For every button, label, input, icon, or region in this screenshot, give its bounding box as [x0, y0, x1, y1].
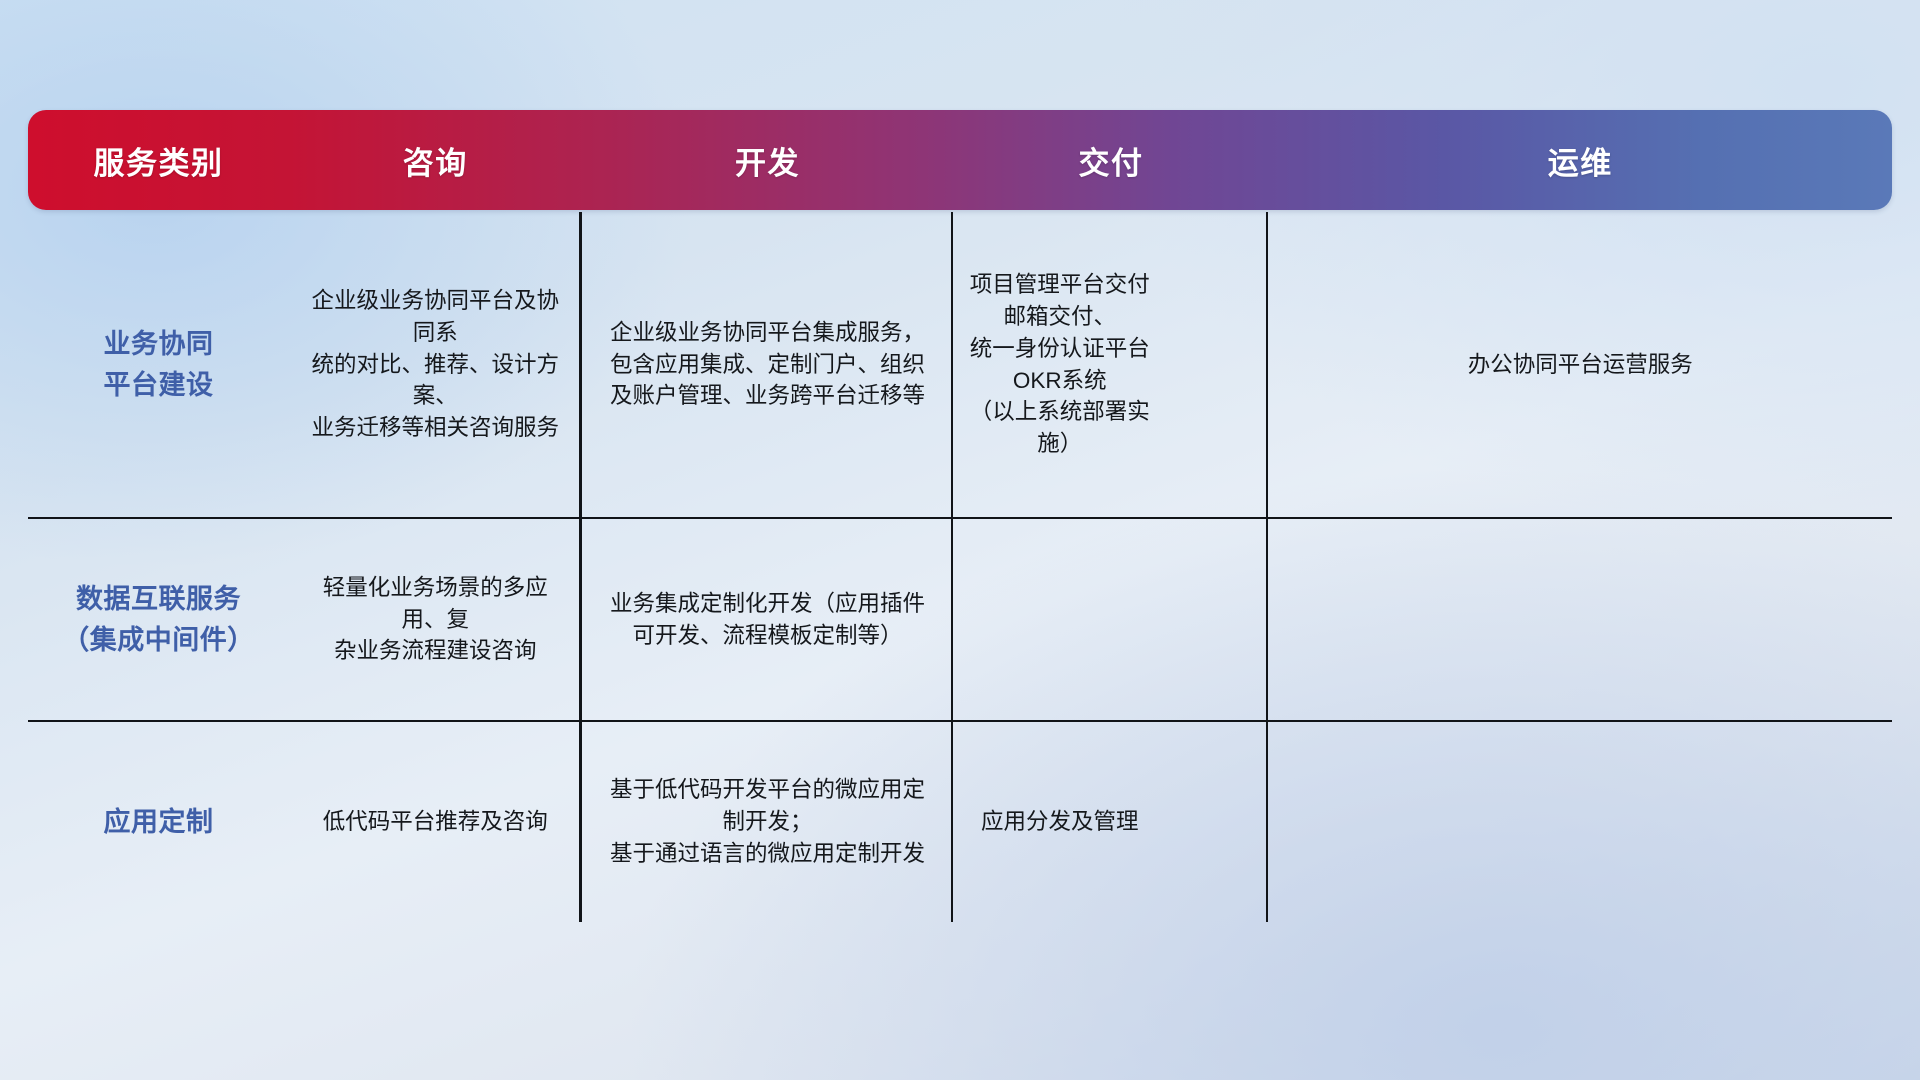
cell-delivery-spacer [1166, 519, 1269, 720]
cell-operations: 办公协同平台运营服务 [1268, 212, 1892, 517]
column-header-service-category: 服务类别 [28, 110, 289, 210]
column-header-consulting: 咨询 [289, 110, 582, 210]
cell-development: 业务集成定制化开发（应用插件 可开发、流程模板定制等） [582, 519, 954, 720]
column-header-development: 开发 [582, 110, 954, 210]
table-header-row: 服务类别 咨询 开发 交付 运维 [28, 110, 1892, 210]
cell-operations [1268, 722, 1892, 922]
table-row: 数据互联服务 （集成中间件） 轻量化业务场景的多应用、复 杂业务流程建设咨询 业… [28, 519, 1892, 722]
row-category-label: 业务协同 平台建设 [28, 212, 289, 517]
cell-consulting: 企业级业务协同平台及协同系 统的对比、推荐、设计方案、 业务迁移等相关咨询服务 [289, 212, 582, 517]
row-category-label: 应用定制 [28, 722, 289, 922]
cell-consulting: 低代码平台推荐及咨询 [289, 722, 582, 922]
cell-delivery: 项目管理平台交付 邮箱交付、 统一身份认证平台 OKR系统 （以上系统部署实施） [953, 212, 1165, 517]
cell-delivery-spacer [1166, 722, 1269, 922]
row-category-label: 数据互联服务 （集成中间件） [28, 519, 289, 720]
table-row: 业务协同 平台建设 企业级业务协同平台及协同系 统的对比、推荐、设计方案、 业务… [28, 212, 1892, 519]
cell-consulting: 轻量化业务场景的多应用、复 杂业务流程建设咨询 [289, 519, 582, 720]
table-body: 业务协同 平台建设 企业级业务协同平台及协同系 统的对比、推荐、设计方案、 业务… [28, 212, 1892, 922]
column-header-delivery: 交付 [953, 110, 1268, 210]
cell-development: 企业级业务协同平台集成服务， 包含应用集成、定制门户、组织 及账户管理、业务跨平… [582, 212, 954, 517]
cell-delivery-spacer [1166, 212, 1269, 517]
cell-delivery [953, 519, 1165, 720]
slide-canvas: 服务类别 咨询 开发 交付 运维 业务协同 平台建设 企业级业务协同平台及协同系… [0, 0, 1920, 1080]
cell-delivery: 应用分发及管理 [953, 722, 1165, 922]
cell-operations [1268, 519, 1892, 720]
table-row: 应用定制 低代码平台推荐及咨询 基于低代码开发平台的微应用定 制开发； 基于通过… [28, 722, 1892, 922]
service-matrix-table: 服务类别 咨询 开发 交付 运维 业务协同 平台建设 企业级业务协同平台及协同系… [28, 110, 1892, 922]
column-header-operations: 运维 [1268, 110, 1892, 210]
cell-development: 基于低代码开发平台的微应用定 制开发； 基于通过语言的微应用定制开发 [582, 722, 954, 922]
